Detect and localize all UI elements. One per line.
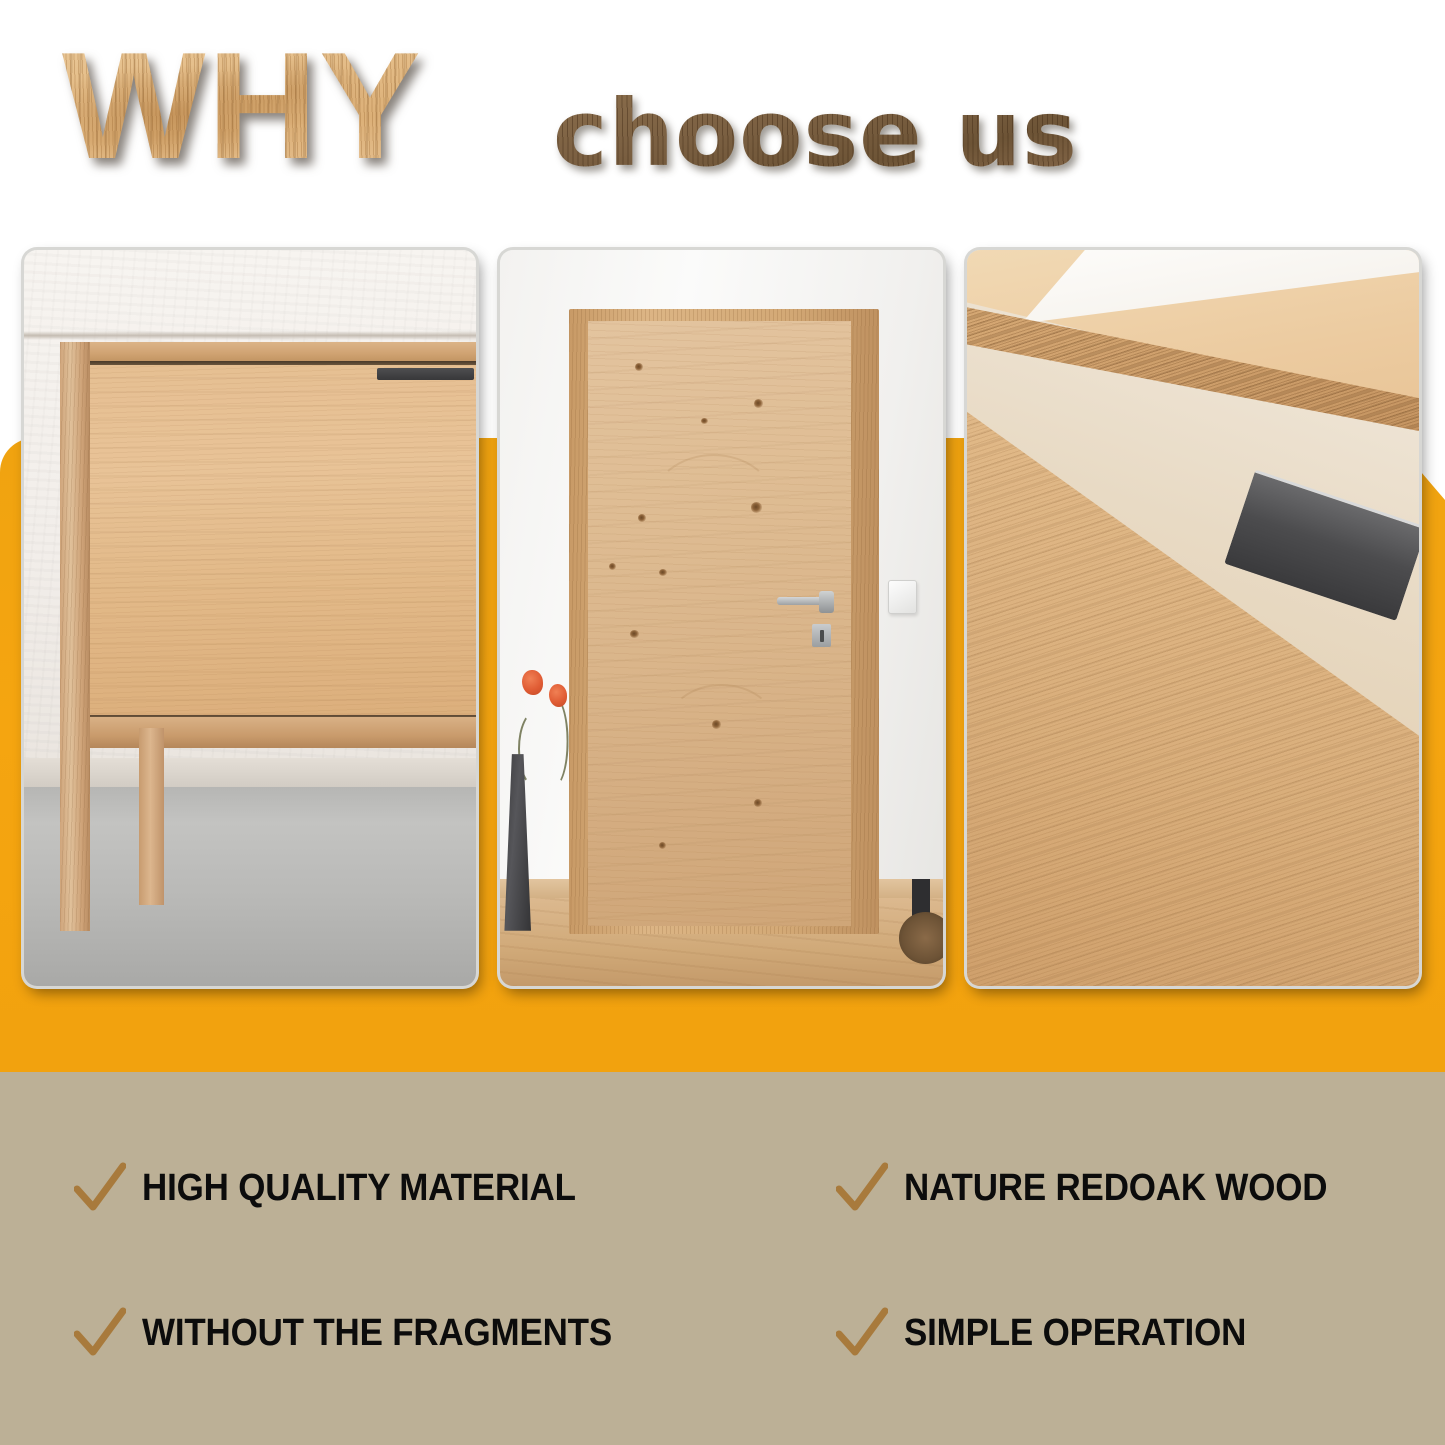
wood-knot [609, 563, 616, 570]
wood-grain-arc [651, 454, 776, 555]
feature-item-nature-redoak-wood: NATURE REDOAK WOOD [836, 1162, 1364, 1214]
page-title-primary: WHY [62, 30, 423, 182]
feature-label: SIMPLE OPERATION [904, 1314, 1246, 1352]
photo-oak-sideboard-image [24, 250, 476, 986]
poppy-flower [549, 684, 568, 707]
wood-knot [659, 569, 667, 576]
wood-knot [635, 363, 643, 371]
poppy-stem [538, 695, 569, 787]
feature-label: WITHOUT THE FRAGMENTS [142, 1314, 612, 1352]
cabinet-left-leg [60, 342, 90, 931]
light-switch [888, 580, 917, 614]
check-icon [74, 1162, 126, 1214]
wood-knot [701, 418, 708, 425]
feature-list: HIGH QUALITY MATERIAL NATURE REDOAK WOOD… [0, 1072, 1445, 1445]
photo-card-oak-sideboard[interactable] [24, 250, 476, 986]
door-handle-rose [819, 591, 834, 613]
check-icon [74, 1307, 126, 1359]
photo-oak-door-image [500, 250, 943, 986]
photo-card-panel-edge-detail[interactable] [967, 250, 1419, 986]
why-choose-us-infographic: WHY choose us [0, 0, 1445, 1445]
check-icon [836, 1162, 888, 1214]
feature-item-simple-operation: SIMPLE OPERATION [836, 1307, 1276, 1359]
feature-label: HIGH QUALITY MATERIAL [142, 1169, 576, 1207]
wood-knot [659, 842, 666, 849]
feature-item-high-quality-material: HIGH QUALITY MATERIAL [74, 1162, 614, 1214]
wood-grain-arc [667, 684, 776, 767]
page-title-secondary: choose us [553, 88, 1078, 180]
wall-ridge [24, 331, 476, 340]
cabinet-panel-top-seam [90, 361, 476, 365]
check-icon [836, 1307, 888, 1359]
wood-knot [630, 630, 639, 638]
cabinet-center-leg [139, 728, 164, 905]
cabinet-bar-handle [377, 368, 474, 380]
header-banner: WHY choose us [0, 0, 1445, 230]
wood-knot [754, 799, 762, 807]
cabinet-bottom-rail [60, 717, 476, 748]
feature-item-without-the-fragments: WITHOUT THE FRAGMENTS [74, 1307, 653, 1359]
photo-card-oak-door[interactable] [500, 250, 943, 986]
cabinet-door-panel [90, 363, 476, 719]
wood-knot [754, 399, 763, 408]
dark-object [912, 879, 930, 916]
concrete-floor [24, 787, 476, 986]
photo-panel-edge-image [967, 250, 1419, 986]
wood-knot [638, 514, 646, 522]
door-keyhole [820, 630, 824, 643]
poppy-flower [522, 670, 542, 695]
feature-label: NATURE REDOAK WOOD [904, 1169, 1327, 1207]
